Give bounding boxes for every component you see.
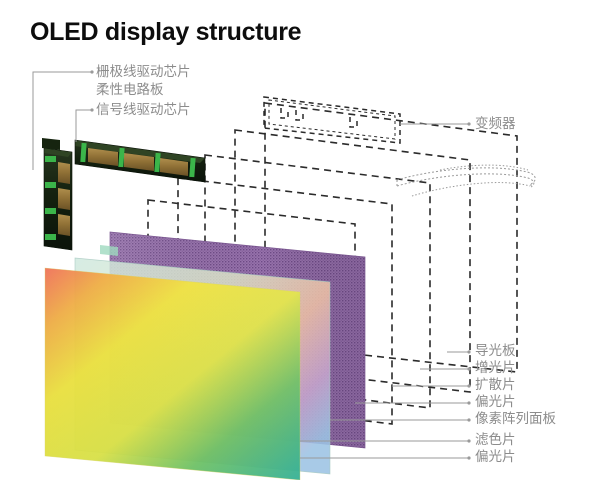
label-source-driver-ic: 信号线驱动芯片 (96, 104, 191, 118)
gate-driver-pcb (42, 138, 72, 250)
label-brightness-film: 增光片 (475, 362, 516, 376)
lamp-tube-dashed (397, 165, 535, 196)
label-polarizer-upper: 偏光片 (475, 451, 516, 465)
diagram-canvas: OLED display structure (0, 0, 609, 480)
source-driver-pcb (75, 140, 205, 182)
label-inverter: 变频器 (475, 118, 516, 132)
label-diffuser-film: 扩散片 (475, 379, 516, 393)
label-color-filter: 滤色片 (475, 434, 516, 448)
label-light-guide-plate: 导光板 (475, 345, 516, 359)
label-flexible-pcb: 柔性电路板 (96, 84, 164, 98)
color-filter-layer (45, 268, 300, 480)
oled-structure-illustration (0, 0, 609, 480)
label-pixel-array-panel: 像素阵列面板 (475, 413, 556, 427)
label-gate-driver-ic: 栅极线驱动芯片 (96, 66, 191, 80)
label-polarizer-lower: 偏光片 (475, 396, 516, 410)
